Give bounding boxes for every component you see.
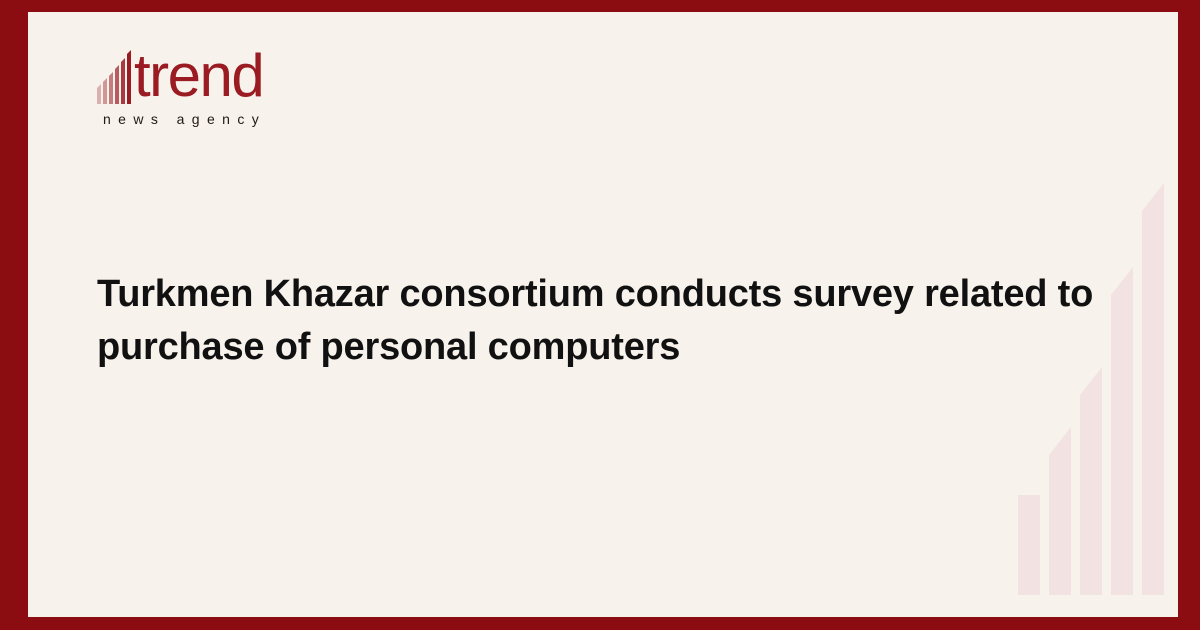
brand-logo-main: trend: [97, 42, 337, 104]
brand-tagline: news agency: [103, 111, 337, 127]
rising-bars-icon: [97, 48, 133, 104]
article-share-card: trend news agency Turkmen Khazar consort…: [0, 0, 1200, 630]
ascending-bars-decoration: [1018, 165, 1178, 595]
article-headline: Turkmen Khazar consortium conducts surve…: [97, 268, 1107, 374]
card-canvas: trend news agency Turkmen Khazar consort…: [28, 12, 1178, 617]
brand-logo[interactable]: trend news agency: [97, 42, 337, 127]
brand-wordmark: trend: [134, 48, 263, 104]
